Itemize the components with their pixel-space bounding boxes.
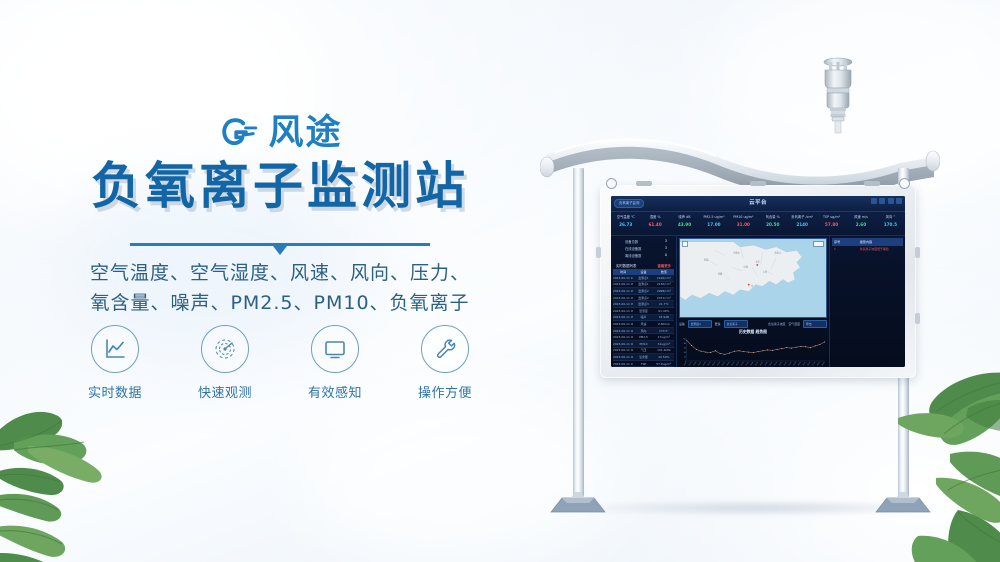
alarm-cell: 1 (834, 247, 860, 251)
metrics-strip: 空气温度 ℃26.73湿度 %61.40噪声 dB43.90PM2.5 ug/m… (611, 212, 905, 236)
chart-data-point[interactable] (739, 350, 740, 351)
svg-text:广州: 广州 (749, 283, 753, 287)
metric-label: 负氧离子 /cm³ (787, 215, 816, 219)
chart-x-tick: 09:00 (726, 361, 730, 366)
chart-data-point[interactable] (777, 349, 778, 350)
table-row[interactable]: 2023-06-11 09:50:00监测点12136/cm³ (613, 282, 674, 289)
chart-data-point[interactable] (696, 349, 697, 350)
dashboard-left-panel: 设备总数3在线设备数3离线设备数0 实时数据列表 查看更多 时间设备数值 202… (611, 236, 677, 367)
chart-data-point[interactable] (743, 351, 744, 352)
device-stat-row: 在线设备数3 (613, 245, 674, 252)
chart-data-point[interactable] (824, 341, 825, 342)
wrench-icon (433, 337, 457, 361)
chart-data-point[interactable] (791, 347, 792, 348)
table-cell: 2023-06-11 08:10:00 (613, 348, 633, 352)
chart-data-point[interactable] (805, 346, 806, 347)
table-cell: 43.9dB (654, 315, 674, 319)
chart-x-tick: 03:00 (698, 361, 702, 366)
metric-value: 31.00 (729, 223, 758, 227)
chart-x-tick: 02:00 (693, 361, 697, 366)
metric-card: 噪声 dB43.90 (670, 212, 699, 235)
metric-label: 风向 ° (876, 215, 905, 219)
chart-device-label: 设备 (679, 322, 685, 326)
feature-item-fast-observation[interactable]: 快速观测 (189, 325, 261, 401)
chart-data-point[interactable] (753, 352, 754, 353)
page-title: 负氧离子监测站 (0, 158, 560, 214)
monitor-icon (323, 337, 347, 361)
table-cell: 2023-06-11 09:10:00 (613, 309, 633, 313)
metric-label: PM2.5 ug/m³ (699, 215, 728, 219)
table-cell: 2023-06-11 08:50:00 (613, 322, 633, 326)
data-table-column-header: 设备 (633, 270, 653, 274)
data-table-column-header: 数值 (654, 270, 674, 274)
table-cell: 2140/cm³ (654, 276, 674, 280)
subtitle-line-2: 氧含量、噪声、PM2.5、PM10、负氧离子 (0, 288, 560, 318)
table-row[interactable]: 2023-06-11 09:20:00监测点321.7℃ (613, 301, 674, 308)
device-stat-label: 在线设备数 (625, 246, 641, 251)
chart-data-point[interactable] (705, 351, 706, 352)
table-row[interactable]: 2023-06-11 09:30:00监测点22071/cm³ (613, 295, 674, 302)
metric-card: 空气温度 ℃26.73 (611, 212, 640, 235)
metric-label: 空气温度 ℃ (611, 215, 640, 219)
feature-icon-circle (201, 325, 249, 373)
table-cell: 噪声 (633, 315, 653, 319)
feature-icon-circle (421, 325, 469, 373)
metric-value: 61.40 (640, 223, 669, 227)
dashboard-center-panel: 新疆 内蒙古 黑龙江 西藏 北京 上海 广州 中国 (677, 236, 829, 367)
chart-x-tick: 15:00 (755, 361, 759, 366)
table-cell: 2023-06-11 08:20:00 (613, 342, 633, 346)
table-cell: 风向 (633, 329, 653, 333)
table-row[interactable]: 2023-06-11 08:30:00PM2.517ug/m³ (613, 334, 674, 341)
table-cell: 2023-06-11 09:30:00 (613, 296, 633, 300)
table-row[interactable]: 2023-06-11 08:10:00气压101.2kPa (613, 348, 674, 355)
device-stat-label: 离线设备数 (625, 253, 641, 258)
chart-x-tick: 17:00 (764, 361, 768, 366)
chart-x-tick: 22:00 (788, 361, 792, 366)
metric-label: 湿度 % (640, 215, 669, 219)
chart-data-point[interactable] (724, 353, 725, 354)
table-cell: 61.40% (654, 309, 674, 313)
table-cell: 20.50% (654, 355, 674, 359)
table-cell: 31ug/m³ (654, 342, 674, 346)
table-cell: 2023-06-11 09:20:00 (613, 302, 633, 306)
map-zoom-icon[interactable] (682, 241, 688, 247)
table-cell: 监测点1 (633, 276, 653, 280)
base-plate-left (547, 492, 609, 514)
chart-data-point[interactable] (772, 349, 773, 350)
feature-item-easy-operation[interactable]: 操作方便 (409, 325, 481, 401)
subtitle: 空气温度、空气湿度、风速、风向、压力、 氧含量、噪声、PM2.5、PM10、负氧… (0, 258, 560, 318)
user-icon[interactable] (896, 198, 902, 204)
display-cabinet: 负氧离子监测 云平台 空气温度 ℃26.73湿度 %61.40噪声 dB43.9… (600, 185, 916, 378)
mount-tab (750, 181, 766, 186)
alarm-table-header: 序号报警内容 (832, 238, 903, 246)
alarm-table-body[interactable]: 1负氧离子浓度低于阈值 (832, 246, 903, 253)
chart-x-tick: 05:00 (707, 361, 711, 366)
chart-x-tick: 08:00 (722, 361, 726, 366)
table-cell: 2.60m/s (654, 322, 674, 326)
device-stat-row: 离线设备数0 (613, 252, 674, 259)
fengtu-g-logo-icon (217, 112, 259, 154)
feature-label: 操作方便 (418, 382, 472, 401)
metric-value: 2140 (787, 223, 816, 227)
table-cell: 监测点3 (633, 302, 653, 306)
chart-data-point[interactable] (781, 348, 782, 349)
table-cell: 2136/cm³ (654, 282, 674, 286)
table-cell: 170.5° (654, 329, 674, 333)
map-layer-icon[interactable] (813, 241, 824, 247)
chart-x-tick: 26:00 (807, 361, 811, 366)
table-cell: 2098/cm³ (654, 289, 674, 293)
svg-text:中国: 中国 (744, 264, 749, 268)
chart-x-tick: 06:00 (712, 361, 716, 366)
chart-data-point[interactable] (810, 347, 811, 348)
support-pole-left (573, 168, 584, 508)
chart-legend-2: 空气温度 (788, 322, 800, 326)
chart-x-tick: 07:00 (717, 361, 721, 366)
table-cell: 2023-06-11 09:50:00 (613, 282, 633, 286)
table-row[interactable]: 2023-06-11 09:00:00噪声43.9dB (613, 315, 674, 322)
chart-y-tick: 80 (684, 343, 686, 345)
mount-tab (864, 181, 880, 186)
table-cell: 监测点1 (633, 282, 653, 286)
metric-label: 氧含量 % (758, 215, 787, 219)
chart-data-point[interactable] (729, 352, 730, 353)
chart-data-point[interactable] (686, 340, 687, 341)
metric-value: 170.5 (876, 223, 905, 227)
data-table-body[interactable]: 2023-06-11 10:00:00监测点12140/cm³2023-06-1… (613, 275, 674, 367)
feature-item-effective-sensing[interactable]: 有效感知 (299, 325, 371, 401)
feature-icon-circle (91, 325, 139, 373)
metric-value: 57.80 (817, 223, 846, 227)
chart-title: 历史数据 趋势图 (679, 329, 827, 335)
chart-legend-1: 负氧离子浓度 (768, 322, 785, 326)
trend-chart: 02040608010000:0001:0002:0003:0004:0005:… (679, 336, 827, 367)
chart-data-point[interactable] (748, 351, 749, 352)
dashboard-top-icons[interactable] (871, 198, 903, 204)
dashboard-body: 设备总数3在线设备数3离线设备数0 实时数据列表 查看更多 时间设备数值 202… (611, 236, 905, 367)
metric-value: 43.90 (670, 223, 699, 227)
feature-label: 有效感知 (308, 382, 362, 401)
hero-text-column: 风途 负氧离子监测站 空气温度、空气湿度、风速、风向、压力、 氧含量、噪声、PM… (0, 0, 560, 562)
display-screen[interactable]: 负氧离子监测 云平台 空气温度 ℃26.73湿度 %61.40噪声 dB43.9… (611, 196, 905, 367)
data-table-header: 实时数据列表 查看更多 (613, 262, 674, 269)
chart-series-line (687, 340, 825, 354)
device-stat-value: 0 (665, 253, 667, 258)
feature-label: 实时数据 (88, 382, 142, 401)
table-cell: 2023-06-11 09:00:00 (613, 315, 633, 319)
radar-scan-icon (213, 337, 237, 361)
chart-y-tick: 20 (684, 356, 686, 358)
device-stat-value: 3 (665, 239, 667, 244)
table-cell: 2023-06-11 10:00:00 (613, 276, 633, 280)
table-cell: 2071/cm³ (654, 296, 674, 300)
monitoring-station-device: 负氧离子监测 云平台 空气温度 ℃26.73湿度 %61.40噪声 dB43.9… (520, 40, 1000, 540)
table-cell: 2023-06-11 08:40:00 (613, 329, 633, 333)
chart-y-tick: 60 (684, 347, 686, 349)
chart-y-tick: 100 (683, 338, 686, 340)
trend-chart-svg: 02040608010000:0001:0002:0003:0004:0005:… (679, 336, 827, 367)
china-map[interactable]: 新疆 内蒙古 黑龙江 西藏 北京 上海 广州 中国 (679, 238, 827, 318)
table-cell: PM10 (633, 342, 653, 346)
chart-data-point[interactable] (767, 349, 768, 350)
dashboard-right-panel: 序号报警内容 1负氧离子浓度低于阈值 (829, 236, 905, 367)
table-row[interactable]: 2023-06-11 09:10:00温湿度61.40% (613, 308, 674, 315)
subtitle-line-1: 空气温度、空气湿度、风速、风向、压力、 (0, 258, 560, 288)
data-table-more-link[interactable]: 查看更多 (657, 263, 671, 268)
chart-axes (687, 338, 825, 360)
chart-data-point[interactable] (758, 351, 759, 352)
table-cell: 2023-06-11 08:00:00 (613, 355, 633, 359)
metric-label: 风速 m/s (846, 215, 875, 219)
svg-text:内蒙古: 内蒙古 (733, 251, 740, 255)
table-cell: 2023-06-11 09:40:00 (613, 289, 633, 293)
map-canvas: 新疆 内蒙古 黑龙江 西藏 北京 上海 广州 中国 (680, 239, 826, 317)
table-row[interactable]: 2023-06-11 09:40:00监测点22098/cm³ (613, 288, 674, 295)
device-stat-row: 设备总数3 (613, 238, 674, 245)
mount-hook-left (606, 178, 617, 189)
table-cell: PM2.5 (633, 335, 653, 339)
metric-value: 17.00 (699, 223, 728, 227)
data-table-column-header: 时间 (613, 270, 633, 274)
chart-data-point[interactable] (720, 353, 721, 354)
device-stat-value: 3 (665, 246, 667, 251)
table-cell: 2023-06-11 07:50:00 (613, 362, 633, 366)
chart-x-tick: 23:00 (793, 361, 797, 366)
table-cell: 气压 (633, 348, 653, 352)
feature-list: 实时数据 快速观测 (0, 325, 560, 401)
alarm-column-header: 报警内容 (860, 239, 901, 244)
cabinet-side-nub-left (596, 247, 601, 258)
alarm-row[interactable]: 1负氧离子浓度低于阈值 (832, 246, 903, 253)
chart-x-tick: 27:00 (812, 361, 816, 366)
feature-label: 快速观测 (198, 382, 252, 401)
chart-x-tick: 14:00 (750, 361, 754, 366)
dashboard-title: 云平台 (611, 198, 905, 206)
chart-data-point[interactable] (710, 352, 711, 353)
chart-icon[interactable] (879, 198, 885, 204)
table-cell: 57.8ug/m³ (654, 362, 674, 366)
chart-x-tick: 16:00 (760, 361, 764, 366)
chart-x-tick: 19:00 (774, 361, 778, 366)
table-cell: 风速 (633, 322, 653, 326)
metric-card: 湿度 %61.40 (640, 212, 669, 235)
svg-text:新疆: 新疆 (704, 258, 709, 262)
chart-data-point[interactable] (715, 350, 716, 351)
chart-data-point[interactable] (691, 345, 692, 346)
table-row[interactable]: 2023-06-11 08:40:00风向170.5° (613, 328, 674, 335)
brand-name: 风途 (268, 116, 342, 151)
chart-y-tick: 40 (684, 351, 686, 353)
table-cell: 温湿度 (633, 309, 653, 313)
metric-value: 26.73 (611, 223, 640, 227)
feature-item-realtime-data[interactable]: 实时数据 (79, 325, 151, 401)
metric-value: 2.60 (846, 223, 875, 227)
alarm-column-header: 序号 (834, 239, 860, 244)
line-chart-icon (103, 337, 127, 361)
metric-card: 负氧离子 /cm³2140 (787, 212, 816, 235)
chart-data-point[interactable] (801, 345, 802, 346)
brand-logo: 风途 (0, 112, 560, 154)
table-cell: 17ug/m³ (654, 335, 674, 339)
chart-data-point[interactable] (820, 344, 821, 345)
chart-x-tick: 10:00 (731, 361, 735, 366)
mount-hook-right (899, 178, 910, 189)
table-cell: 监测点2 (633, 296, 653, 300)
data-table-title: 实时数据列表 (616, 263, 636, 268)
chart-export-button[interactable]: 导出 (803, 320, 827, 328)
chart-x-tick: 04:00 (703, 361, 707, 366)
chart-data-point[interactable] (796, 346, 797, 347)
metric-card: 风速 m/s2.60 (846, 212, 875, 235)
chart-device-select[interactable]: 监测点1 (688, 320, 712, 328)
chart-x-tick: 01:00 (688, 361, 692, 366)
title-divider (130, 243, 430, 256)
cabinet-side-nub-right (915, 247, 920, 258)
svg-text:黑龙江: 黑龙江 (774, 251, 781, 255)
chart-x-tick: 21:00 (783, 361, 787, 366)
chart-x-tick: 25:00 (802, 361, 806, 366)
metric-card: 风向 °170.5 (876, 212, 905, 235)
table-row[interactable]: 2023-06-11 10:00:00监测点12140/cm³ (613, 275, 674, 282)
svg-text:北京: 北京 (756, 259, 761, 263)
table-row[interactable]: 2023-06-11 07:50:00TSP57.8ug/m³ (613, 361, 674, 367)
chart-x-tick: 18:00 (769, 361, 773, 366)
chart-x-tick: 28:00 (817, 361, 821, 366)
chart-x-tick: 24:00 (798, 361, 802, 366)
table-cell: 氧含量 (633, 355, 653, 359)
dashboard: 负氧离子监测 云平台 空气温度 ℃26.73湿度 %61.40噪声 dB43.9… (611, 196, 905, 367)
chart-data-point[interactable] (762, 350, 763, 351)
grid-icon[interactable] (871, 198, 877, 204)
gear-icon[interactable] (888, 198, 894, 204)
chart-factor-label: 要素 (715, 322, 721, 326)
chart-data-point[interactable] (734, 350, 735, 351)
chart-x-tick: 11:00 (736, 361, 740, 366)
chart-data-point[interactable] (815, 345, 816, 346)
table-row[interactable]: 2023-06-11 08:00:00氧含量20.50% (613, 354, 674, 361)
metric-card: PM2.5 ug/m³17.00 (699, 212, 728, 235)
mount-tab (636, 181, 652, 186)
metric-value: 20.50 (758, 223, 787, 227)
chart-data-point[interactable] (701, 350, 702, 351)
metric-label: TSP ug/m³ (817, 215, 846, 219)
table-cell: 21.7℃ (654, 302, 674, 306)
chart-x-tick: 13:00 (745, 361, 749, 366)
chart-factor-select[interactable]: 负氧离子 (724, 320, 748, 328)
metric-card: 氧含量 %20.50 (758, 212, 787, 235)
metric-label: 噪声 dB (670, 215, 699, 219)
table-cell: 2023-06-11 08:30:00 (613, 335, 633, 339)
poster-canvas: 风途 负氧离子监测站 空气温度、空气湿度、风速、风向、压力、 氧含量、噪声、PM… (0, 0, 1000, 562)
metric-label: PM10 ug/m³ (729, 215, 758, 219)
table-cell: 监测点2 (633, 289, 653, 293)
table-row[interactable]: 2023-06-11 08:50:00风速2.60m/s (613, 321, 674, 328)
svg-text:上海: 上海 (762, 270, 767, 274)
device-stats-block: 设备总数3在线设备数3离线设备数0 (613, 238, 674, 259)
alarm-cell: 负氧离子浓度低于阈值 (860, 247, 901, 251)
metric-card: PM10 ug/m³31.00 (729, 212, 758, 235)
base-plate-right (872, 492, 934, 514)
table-cell: TSP (633, 362, 653, 366)
chart-x-tick: 29:00 (821, 361, 825, 366)
dashboard-header: 负氧离子监测 云平台 (611, 196, 905, 212)
chart-x-tick: 12:00 (741, 361, 745, 366)
chart-x-tick: 20:00 (779, 361, 783, 366)
chart-data-point[interactable] (786, 347, 787, 348)
feature-icon-circle (311, 325, 359, 373)
device-stat-label: 设备总数 (625, 239, 638, 244)
table-row[interactable]: 2023-06-11 08:20:00PM1031ug/m³ (613, 341, 674, 348)
table-cell: 101.2kPa (654, 348, 674, 352)
cabinet-side-nub-right-lower (915, 313, 920, 324)
chart-control-bar: 设备 监测点1 要素 负氧离子 负氧离子浓度 空气温度 导出 (679, 320, 827, 328)
metric-card: TSP ug/m³57.80 (817, 212, 846, 235)
svg-text:西藏: 西藏 (718, 271, 723, 275)
